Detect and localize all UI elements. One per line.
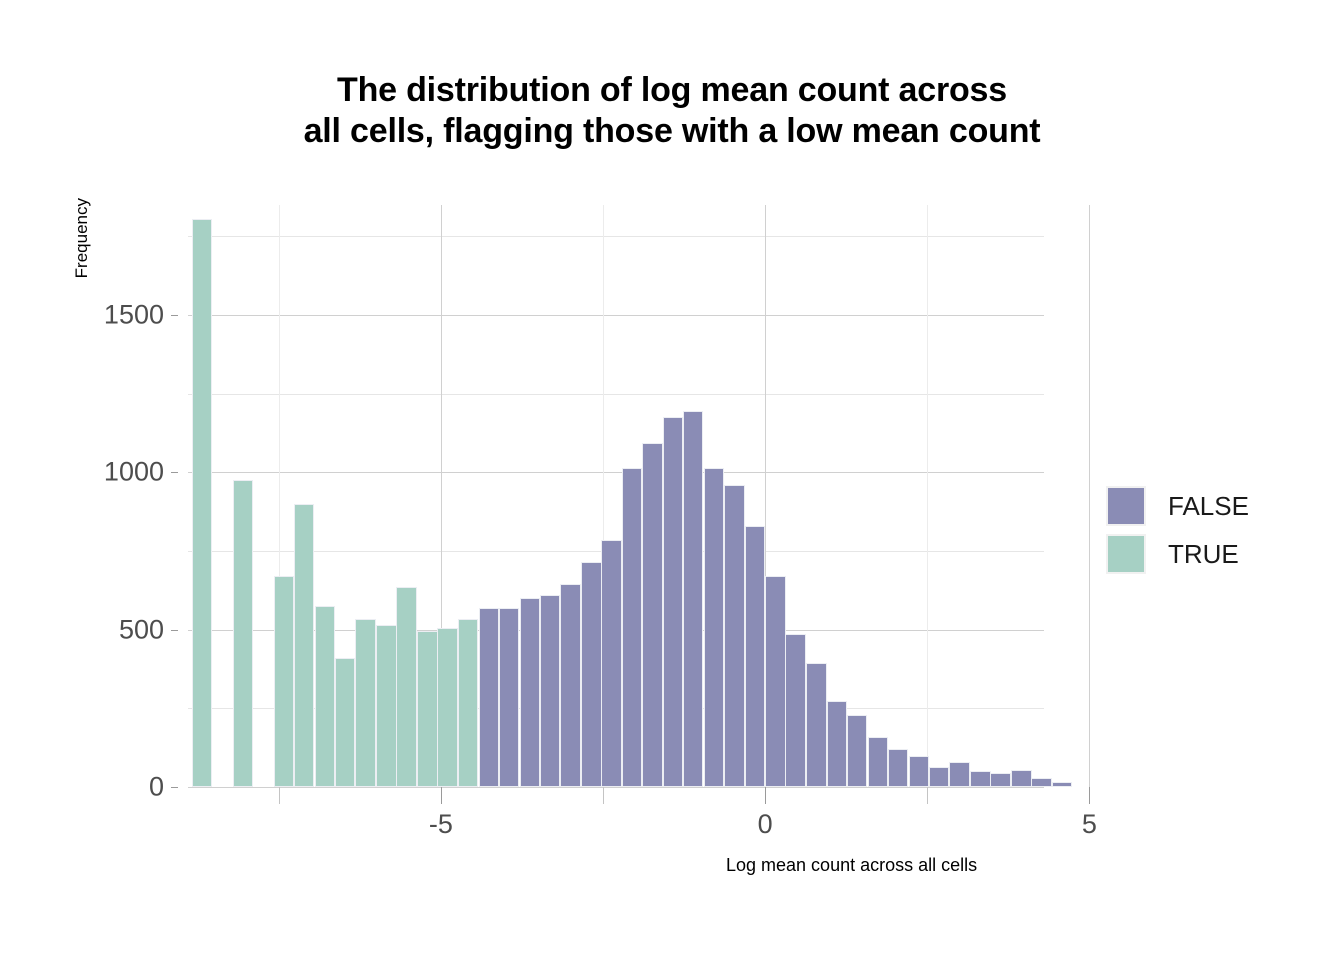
histogram-bar [560, 584, 580, 787]
histogram-bar [949, 762, 969, 787]
gridline-major-horizontal [188, 472, 1044, 473]
histogram-bar [888, 749, 908, 787]
y-axis: 050010001500 [0, 205, 178, 787]
histogram-bar [335, 658, 355, 787]
x-axis-title: Log mean count across all cells [726, 855, 977, 876]
x-axis-tick-mark [441, 787, 442, 804]
chart-page: The distribution of log mean count acros… [0, 0, 1344, 960]
histogram-bar [601, 540, 621, 787]
x-axis-minor-tick-mark [603, 787, 604, 804]
histogram-bar [274, 576, 294, 787]
histogram-bar [1052, 782, 1072, 787]
histogram-bar [376, 625, 396, 787]
histogram-bar [785, 634, 805, 787]
histogram-bar [192, 219, 212, 787]
histogram-bar [847, 715, 867, 787]
plot-area [188, 205, 1044, 787]
gridline-minor-horizontal [188, 394, 1044, 395]
histogram-bar [581, 562, 601, 787]
histogram-bar [233, 480, 253, 787]
histogram-bar [294, 504, 314, 787]
legend: FALSETRUE [1106, 482, 1306, 578]
histogram-bar [520, 598, 540, 787]
gridline-minor-horizontal [188, 236, 1044, 237]
page-title: The distribution of log mean count acros… [0, 70, 1344, 153]
x-axis-minor-tick-mark [279, 787, 280, 804]
gridline-major-horizontal [188, 315, 1044, 316]
y-axis-tick-label: 1000 [104, 457, 164, 488]
histogram-bar [315, 606, 335, 787]
legend-swatch-icon [1106, 534, 1146, 574]
histogram-bar [396, 587, 416, 787]
y-axis-tick-mark [171, 787, 178, 788]
histogram-bar [990, 773, 1010, 787]
histogram-bar [868, 737, 888, 787]
legend-item-label: FALSE [1168, 491, 1249, 522]
x-axis-tick-label: 5 [1082, 809, 1097, 840]
legend-item-false[interactable]: FALSE [1106, 482, 1306, 530]
x-axis-tick-label: -5 [429, 809, 453, 840]
histogram-bar [745, 526, 765, 787]
histogram-bar [417, 631, 437, 787]
legend-item-true[interactable]: TRUE [1106, 530, 1306, 578]
gridline-minor-vertical [927, 205, 928, 787]
y-axis-tick-mark [171, 630, 178, 631]
x-axis-tick-mark [1089, 787, 1090, 804]
histogram-bar [929, 767, 949, 787]
histogram-bar [1011, 770, 1031, 787]
y-axis-tick-mark [171, 472, 178, 473]
histogram-bar [704, 468, 724, 787]
histogram-bar [663, 417, 683, 787]
x-axis-minor-tick-mark [927, 787, 928, 804]
y-axis-tick-label: 1500 [104, 300, 164, 331]
histogram-bar [642, 443, 662, 787]
histogram-bar [355, 619, 375, 787]
histogram-bar [827, 701, 847, 788]
gridline-major-vertical [1089, 205, 1090, 787]
histogram-bar [806, 663, 826, 787]
x-axis-tick-label: 0 [758, 809, 773, 840]
histogram-bar [499, 608, 519, 787]
histogram-bar [1031, 778, 1051, 787]
y-axis-tick-mark [171, 315, 178, 316]
histogram-bar [479, 608, 499, 787]
x-axis: -505 [188, 787, 1044, 847]
legend-item-label: TRUE [1168, 539, 1239, 570]
histogram-bar [683, 411, 703, 787]
histogram-bar [970, 771, 990, 787]
y-axis-tick-label: 500 [119, 614, 164, 645]
histogram-bar [437, 628, 457, 787]
histogram-bar [540, 595, 560, 787]
histogram-bar [458, 619, 478, 787]
histogram-bar [765, 576, 785, 787]
x-axis-tick-mark [765, 787, 766, 804]
y-axis-title: Frequency [72, 198, 92, 278]
histogram-bar [909, 756, 929, 787]
histogram-bar [622, 468, 642, 787]
y-axis-tick-label: 0 [149, 772, 164, 803]
histogram-bar [724, 485, 744, 787]
legend-swatch-icon [1106, 486, 1146, 526]
